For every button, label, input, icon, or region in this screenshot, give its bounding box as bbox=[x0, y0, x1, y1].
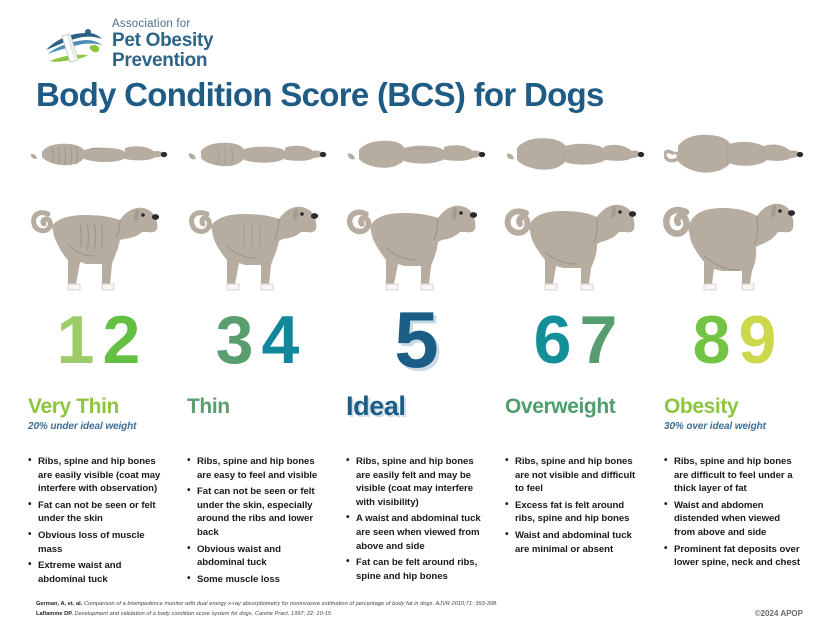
list-item: Some muscle loss bbox=[197, 573, 324, 587]
dog-top-view-ideal-icon bbox=[346, 128, 486, 180]
bcs-number-2: 2 bbox=[103, 306, 139, 374]
list-item: Excess fat is felt around ribs, spine an… bbox=[515, 499, 642, 526]
dog-illustration-thin bbox=[177, 126, 336, 310]
citation-laflamme: Laflamme DP. Development and validation … bbox=[36, 610, 696, 620]
dog-top-view-very-thin-icon bbox=[28, 128, 168, 180]
category-subtitle-obesity: 30% over ideal weight bbox=[664, 421, 803, 432]
citation-german-author: German, A, et. al. bbox=[36, 601, 82, 607]
bcs-number-5: 5 bbox=[394, 300, 437, 380]
list-item: Extreme waist and abdominal tuck bbox=[38, 559, 165, 586]
dog-top-view-thin-icon bbox=[187, 128, 327, 180]
citations: German, A, et. al. Comparison of a bioim… bbox=[36, 600, 696, 619]
citation-german-text: Comparison of a bioimpedence monitor wit… bbox=[82, 601, 497, 607]
bullet-list-obesity: Ribs, spine and hip bones are difficult … bbox=[662, 455, 801, 570]
dog-side-view-ideal-icon bbox=[342, 184, 490, 304]
bcs-number-group-overweight: 6 7 bbox=[495, 306, 654, 386]
list-item: Fat can not be seen or felt under the sk… bbox=[197, 485, 324, 539]
list-item: Ribs, spine and hip bones are difficult … bbox=[674, 455, 801, 496]
dog-top-view-obesity-icon bbox=[664, 128, 804, 180]
list-item: A waist and abdominal tuck are seen when… bbox=[356, 512, 483, 553]
bcs-number-group-very-thin: 1 2 bbox=[18, 306, 177, 386]
category-label-thin: Thin bbox=[187, 396, 326, 418]
dog-illustration-ideal bbox=[336, 126, 495, 310]
category-label-very-thin: Very Thin bbox=[28, 396, 167, 418]
description-column-overweight: Ribs, spine and hip bones are not visibl… bbox=[495, 455, 654, 595]
list-item: Ribs, spine and hip bones are easily fel… bbox=[356, 455, 483, 509]
bullet-list-thin: Ribs, spine and hip bones are easy to fe… bbox=[185, 455, 324, 586]
category-heading-row: Very Thin 20% under ideal weight Thin Id… bbox=[18, 396, 813, 452]
bullet-list-ideal: Ribs, spine and hip bones are easily fel… bbox=[344, 455, 483, 583]
page-title: Body Condition Score (BCS) for Dogs bbox=[36, 76, 604, 114]
citation-german: German, A, et. al. Comparison of a bioim… bbox=[36, 600, 696, 610]
category-thin: Thin bbox=[177, 396, 336, 452]
bullet-list-very-thin: Ribs, spine and hip bones are easily vis… bbox=[26, 455, 165, 586]
copyright-notice: ©2024 APOP bbox=[755, 609, 803, 618]
dog-illustration-row bbox=[18, 126, 813, 310]
description-column-very-thin: Ribs, spine and hip bones are easily vis… bbox=[18, 455, 177, 595]
brand-logo: Association for Pet Obesity Prevention bbox=[44, 18, 344, 70]
description-columns: Ribs, spine and hip bones are easily vis… bbox=[18, 455, 813, 595]
dog-side-view-overweight-icon bbox=[501, 184, 649, 304]
category-obesity: Obesity 30% over ideal weight bbox=[654, 396, 813, 452]
bcs-number-scale: 1 2 3 4 5 6 7 8 9 bbox=[18, 306, 813, 386]
citation-laflamme-author: Laflamme DP. bbox=[36, 611, 73, 617]
list-item: Waist and abdomen distended when viewed … bbox=[674, 499, 801, 540]
list-item: Obvious loss of muscle mass bbox=[38, 529, 165, 556]
dog-illustration-obesity bbox=[654, 126, 813, 310]
description-column-ideal: Ribs, spine and hip bones are easily fel… bbox=[336, 455, 495, 595]
brand-line-association: Association for bbox=[112, 19, 213, 31]
category-label-ideal: Ideal bbox=[346, 392, 485, 420]
bcs-number-8: 8 bbox=[693, 306, 729, 374]
dog-side-view-very-thin-icon bbox=[24, 184, 172, 304]
category-overweight: Overweight bbox=[495, 396, 654, 452]
brand-line-pet-obesity: Pet Obesity bbox=[112, 31, 213, 50]
list-item: Ribs, spine and hip bones are easily vis… bbox=[38, 455, 165, 496]
list-item: Ribs, spine and hip bones are not visibl… bbox=[515, 455, 642, 496]
bcs-number-7: 7 bbox=[580, 306, 616, 374]
list-item: Waist and abdominal tuck are minimal or … bbox=[515, 529, 642, 556]
list-item: Fat can not be seen or felt under the sk… bbox=[38, 499, 165, 526]
dog-side-view-thin-icon bbox=[183, 184, 331, 304]
bcs-number-6: 6 bbox=[534, 306, 570, 374]
list-item: Fat can be felt around ribs, spine and h… bbox=[356, 556, 483, 583]
citation-laflamme-text: Development and validation of a body con… bbox=[73, 611, 331, 617]
bcs-number-9: 9 bbox=[739, 306, 775, 374]
brand-line-prevention: Prevention bbox=[112, 51, 213, 70]
bcs-number-group-thin: 3 4 bbox=[177, 306, 336, 386]
bcs-number-1: 1 bbox=[57, 306, 93, 374]
dog-illustration-overweight bbox=[495, 126, 654, 310]
list-item: Prominent fat deposits over lower spine,… bbox=[674, 543, 801, 570]
description-column-obesity: Ribs, spine and hip bones are difficult … bbox=[654, 455, 813, 595]
description-column-thin: Ribs, spine and hip bones are easy to fe… bbox=[177, 455, 336, 595]
dog-illustration-very-thin bbox=[18, 126, 177, 310]
category-subtitle-very-thin: 20% under ideal weight bbox=[28, 421, 167, 432]
list-item: Obvious waist and abdominal tuck bbox=[197, 543, 324, 570]
dog-tape-measure-logo-icon bbox=[44, 20, 106, 68]
dog-top-view-overweight-icon bbox=[505, 128, 645, 180]
bcs-number-group-ideal: 5 bbox=[336, 306, 495, 386]
bullet-list-overweight: Ribs, spine and hip bones are not visibl… bbox=[503, 455, 642, 556]
bcs-number-group-obesity: 8 9 bbox=[654, 306, 813, 386]
brand-wordmark: Association for Pet Obesity Prevention bbox=[112, 18, 213, 70]
list-item: Ribs, spine and hip bones are easy to fe… bbox=[197, 455, 324, 482]
category-ideal: Ideal bbox=[336, 396, 495, 452]
category-label-overweight: Overweight bbox=[505, 396, 644, 418]
bcs-number-3: 3 bbox=[216, 306, 252, 374]
category-label-obesity: Obesity bbox=[664, 396, 803, 418]
category-very-thin: Very Thin 20% under ideal weight bbox=[18, 396, 177, 452]
dog-side-view-obesity-icon bbox=[660, 184, 808, 304]
bcs-number-4: 4 bbox=[262, 306, 298, 374]
